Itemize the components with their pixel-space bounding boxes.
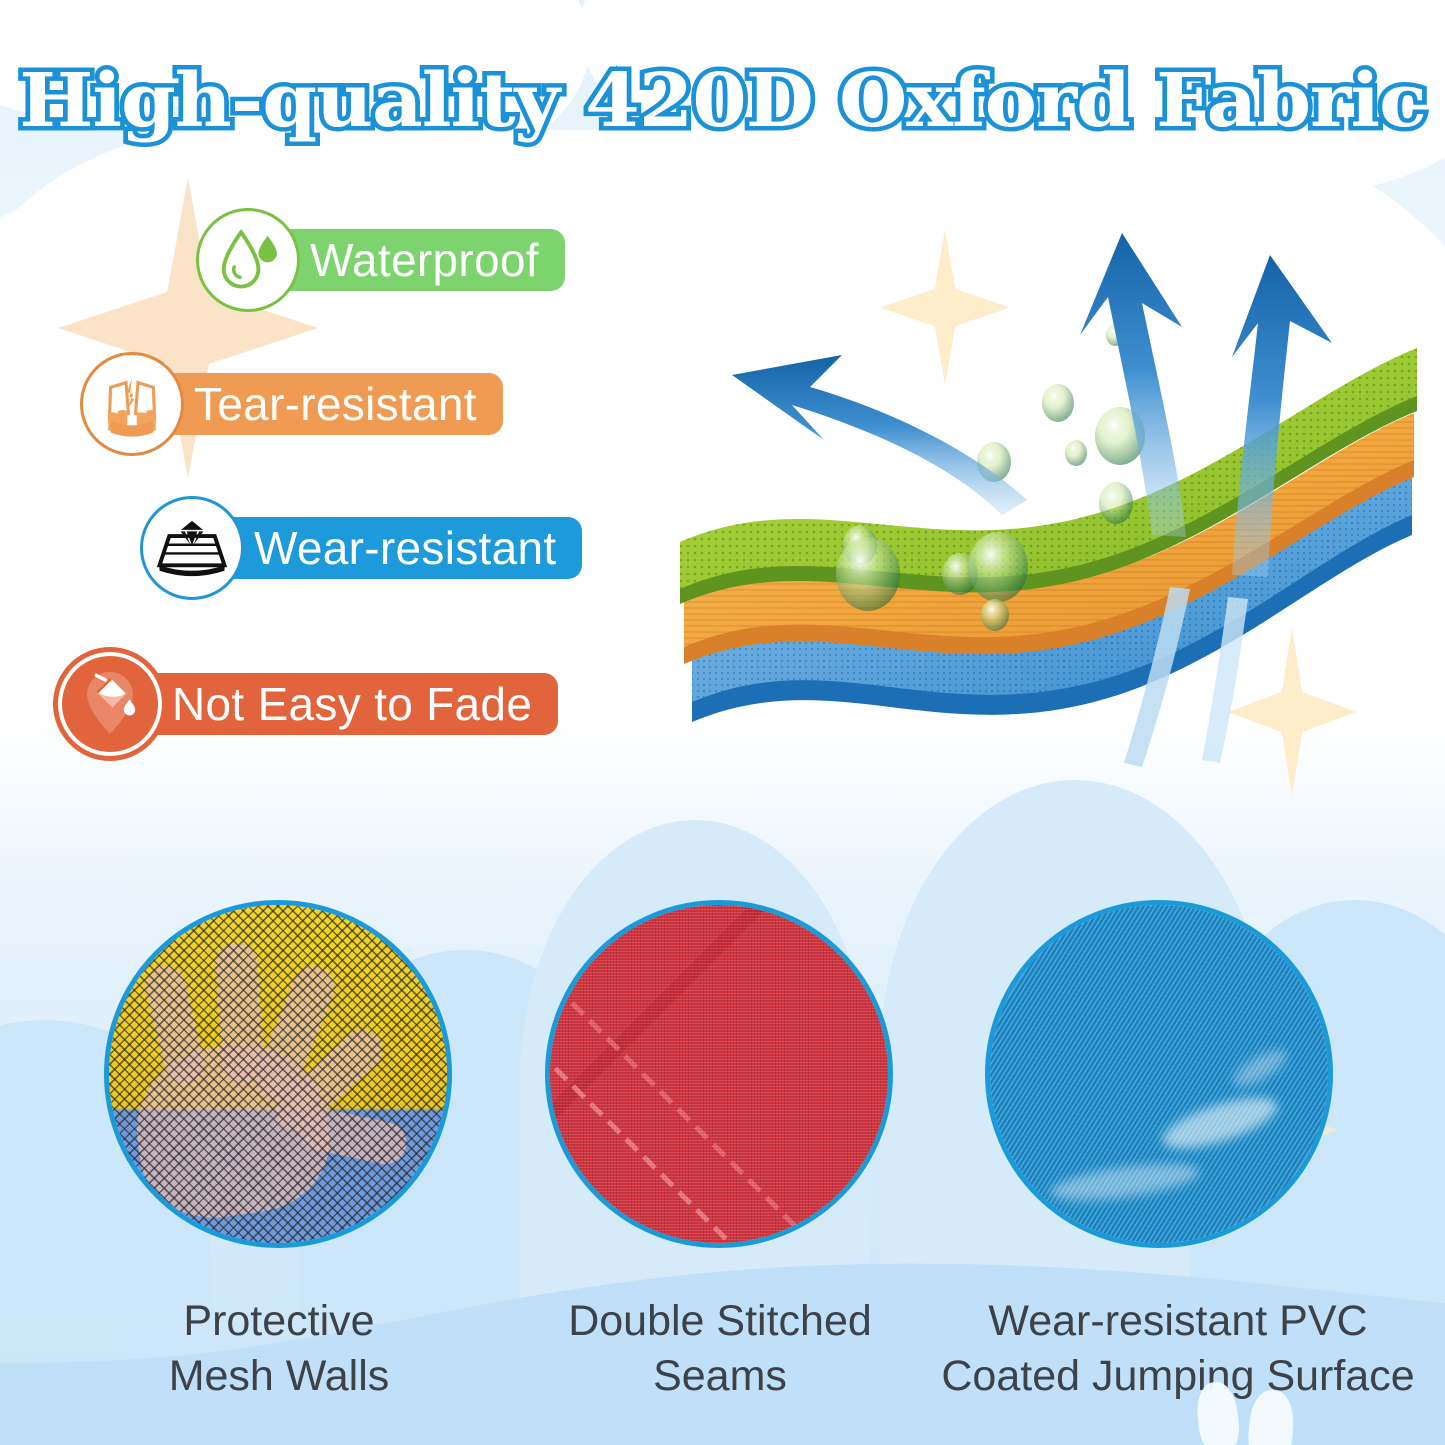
detail-caption-mesh: Protective Mesh Walls: [54, 1294, 504, 1404]
feature-not-easy-to-fade[interactable]: Not Easy to Fade: [58, 652, 558, 756]
feature-label: Not Easy to Fade: [116, 673, 558, 735]
infographic-canvas: High-quality 420D Oxford Fabric Waterpro…: [0, 0, 1445, 1445]
pvc-weave-texture: [990, 905, 1328, 1243]
water-drop-icon: [196, 208, 300, 312]
feature-label: Tear-resistant: [138, 373, 503, 435]
detail-photo-mesh: [104, 900, 452, 1248]
detail-caption-seam: Double Stitched Seams: [495, 1294, 945, 1404]
paint-bucket-pin-icon: [58, 652, 162, 756]
fabric-layers-diagram: [672, 215, 1432, 790]
fabric-weave-texture: [550, 905, 888, 1243]
page-title: High-quality 420D Oxford Fabric: [0, 58, 1445, 144]
abrasion-diamond-icon: [140, 496, 244, 600]
detail-caption-pvc: Wear-resistant PVC Coated Jumping Surfac…: [928, 1294, 1428, 1404]
feature-waterproof[interactable]: Waterproof: [196, 208, 565, 312]
detail-photo-pvc: [985, 900, 1333, 1248]
feature-label: Wear-resistant: [198, 517, 582, 579]
mesh-net-overlay: [109, 905, 447, 1243]
feature-label: Waterproof: [254, 229, 565, 291]
feature-tear-resistant[interactable]: Tear-resistant: [80, 352, 503, 456]
torn-paper-icon: [80, 352, 184, 456]
page-title-text: High-quality 420D Oxford Fabric: [19, 58, 1426, 144]
detail-photo-seam: [545, 900, 893, 1248]
feature-wear-resistant[interactable]: Wear-resistant: [140, 496, 582, 600]
